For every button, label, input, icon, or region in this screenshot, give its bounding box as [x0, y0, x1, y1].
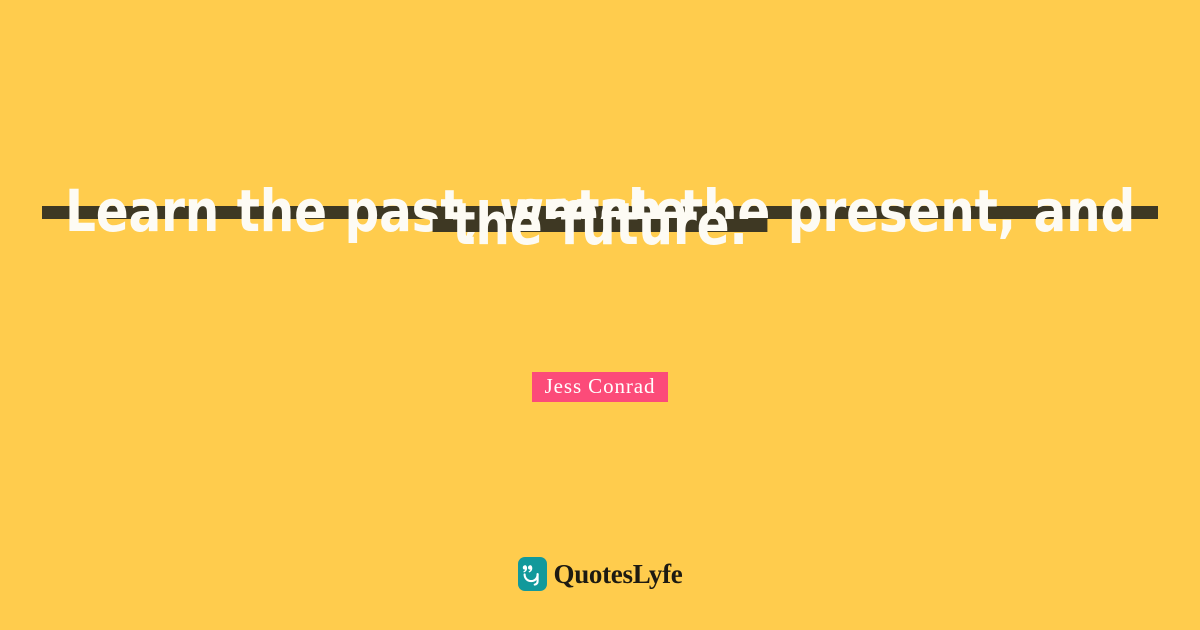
quote-text: Learn the past, watch the present, and c…: [42, 206, 1158, 232]
quote-card: Learn the past, watch the present, and c…: [0, 0, 1200, 630]
quote-smiley-icon: [518, 557, 547, 591]
author-badge[interactable]: Jess Conrad: [532, 372, 669, 402]
brand-name: QuotesLyfe: [554, 559, 683, 589]
brand-logo[interactable]: QuotesLyfe: [0, 557, 1200, 591]
author-row: Jess Conrad: [0, 372, 1200, 402]
quote-line-2: the future.: [433, 219, 767, 232]
quote-block: Learn the past, watch the present, and c…: [0, 206, 1200, 232]
